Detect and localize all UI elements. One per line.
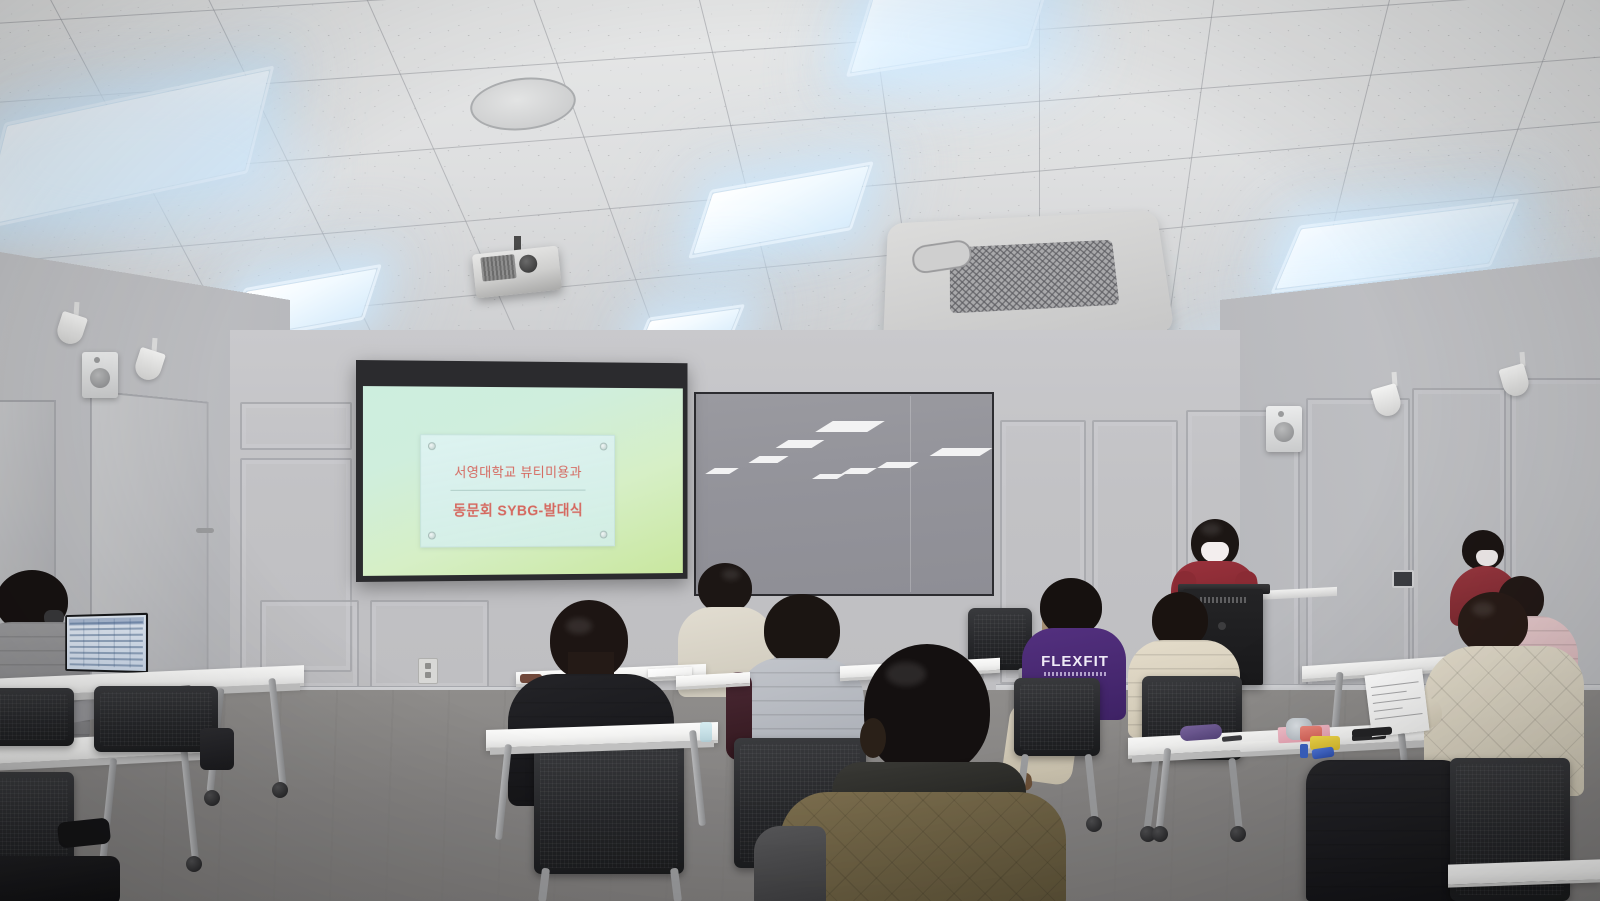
board-light-reflection bbox=[815, 421, 885, 432]
podium-name-plate bbox=[1200, 597, 1246, 603]
chair-mesh bbox=[100, 692, 212, 746]
photo-scene: 서영대학교 뷰티미용과 동문회 SYBG-발대식 bbox=[0, 0, 1600, 901]
board-light-reflection bbox=[705, 468, 739, 474]
speaker-cone bbox=[90, 368, 110, 388]
board-light-reflection bbox=[841, 468, 877, 474]
slide-line-2: 동문회 SYBG-발대식 bbox=[453, 499, 583, 520]
laptop-screen bbox=[67, 615, 146, 671]
hair-highlight bbox=[722, 569, 740, 580]
slide-divider bbox=[450, 490, 585, 491]
hair-highlight bbox=[1201, 523, 1221, 535]
sleeve bbox=[754, 826, 826, 901]
chair-mesh bbox=[0, 694, 68, 740]
board-light-reflection bbox=[930, 448, 993, 456]
handout-text-line bbox=[1374, 707, 1403, 712]
door-handle[interactable] bbox=[196, 528, 214, 533]
speaker-tweeter bbox=[94, 357, 100, 363]
puffer-stitching bbox=[1306, 760, 1466, 901]
table-caster bbox=[1152, 826, 1168, 842]
head bbox=[698, 563, 752, 613]
plaque-screw-icon bbox=[600, 443, 608, 451]
hair-highlight bbox=[1472, 602, 1494, 616]
head bbox=[864, 644, 990, 776]
board-light-reflection bbox=[748, 456, 788, 463]
handout-text-line bbox=[1373, 697, 1421, 704]
foreground-dark-object bbox=[0, 856, 120, 901]
wall-mounted-speaker bbox=[82, 352, 118, 398]
ear bbox=[860, 718, 886, 758]
water-bottle[interactable] bbox=[700, 722, 712, 742]
plaque-screw-icon bbox=[600, 531, 608, 539]
wall-control-panel[interactable] bbox=[1392, 570, 1414, 588]
ceiling-cassette-air-conditioner bbox=[883, 211, 1175, 348]
sweatshirt-graphic-text: FLEXFIT bbox=[1038, 654, 1112, 670]
chair-caster bbox=[1086, 816, 1102, 832]
chair-caster bbox=[1230, 826, 1246, 842]
hair-highlight bbox=[886, 662, 926, 686]
chair-flexfit[interactable] bbox=[1014, 678, 1100, 756]
speaker-tweeter bbox=[1278, 411, 1284, 417]
slide-title-plaque: 서영대학교 뷰티미용과 동문회 SYBG-발대식 bbox=[420, 434, 615, 547]
handout-text-line bbox=[1371, 681, 1419, 688]
table-caster bbox=[186, 856, 202, 872]
shoe bbox=[57, 817, 111, 848]
handout-text-line bbox=[1372, 691, 1407, 696]
ac-grille bbox=[950, 240, 1120, 314]
speaker-cone bbox=[1274, 422, 1294, 442]
head bbox=[1458, 592, 1528, 654]
power-outlet[interactable] bbox=[418, 658, 438, 684]
projected-slide: 서영대학교 뷰티미용과 동문회 SYBG-발대식 bbox=[363, 386, 683, 576]
board-light-reflection bbox=[776, 440, 825, 448]
table-caster bbox=[204, 790, 220, 806]
face-mask bbox=[1201, 542, 1229, 562]
blue-pen[interactable] bbox=[1300, 744, 1308, 758]
face-mask bbox=[1476, 550, 1498, 566]
plaque-screw-icon bbox=[428, 442, 436, 450]
slide-line-1: 서영대학교 뷰티미용과 bbox=[454, 461, 582, 481]
podium-knob bbox=[1218, 622, 1226, 630]
chair-mesh bbox=[1020, 684, 1094, 750]
sweatshirt-subtext bbox=[1044, 672, 1106, 676]
ceiling-mounted-projector bbox=[472, 246, 562, 299]
table-caster bbox=[272, 782, 288, 798]
purple-pouch[interactable] bbox=[1180, 724, 1223, 742]
board-seam bbox=[910, 396, 911, 592]
chair-mesh bbox=[974, 614, 1026, 664]
chair-center-left[interactable] bbox=[534, 742, 684, 874]
head bbox=[550, 600, 628, 680]
laptop[interactable] bbox=[65, 613, 148, 673]
projection-screen: 서영대학교 뷰티미용과 동문회 SYBG-발대식 bbox=[356, 360, 688, 582]
wall-molding-panel bbox=[240, 402, 352, 450]
laptop-toolbar bbox=[69, 617, 144, 626]
wall-mounted-speaker bbox=[1266, 406, 1302, 452]
head bbox=[764, 594, 840, 666]
glassboard-whiteboard bbox=[694, 392, 994, 596]
handout-text-line bbox=[1375, 713, 1423, 720]
black-coat-on-chair bbox=[1306, 760, 1466, 901]
chair-left-edge[interactable] bbox=[0, 688, 74, 746]
hair-highlight bbox=[566, 618, 592, 634]
board-light-reflection bbox=[812, 474, 845, 479]
bag-on-chair bbox=[200, 728, 234, 770]
plaque-screw-icon bbox=[428, 532, 436, 540]
board-light-reflection bbox=[877, 462, 919, 468]
wall-molding-panel bbox=[1306, 398, 1410, 702]
chair-mesh bbox=[540, 748, 678, 868]
